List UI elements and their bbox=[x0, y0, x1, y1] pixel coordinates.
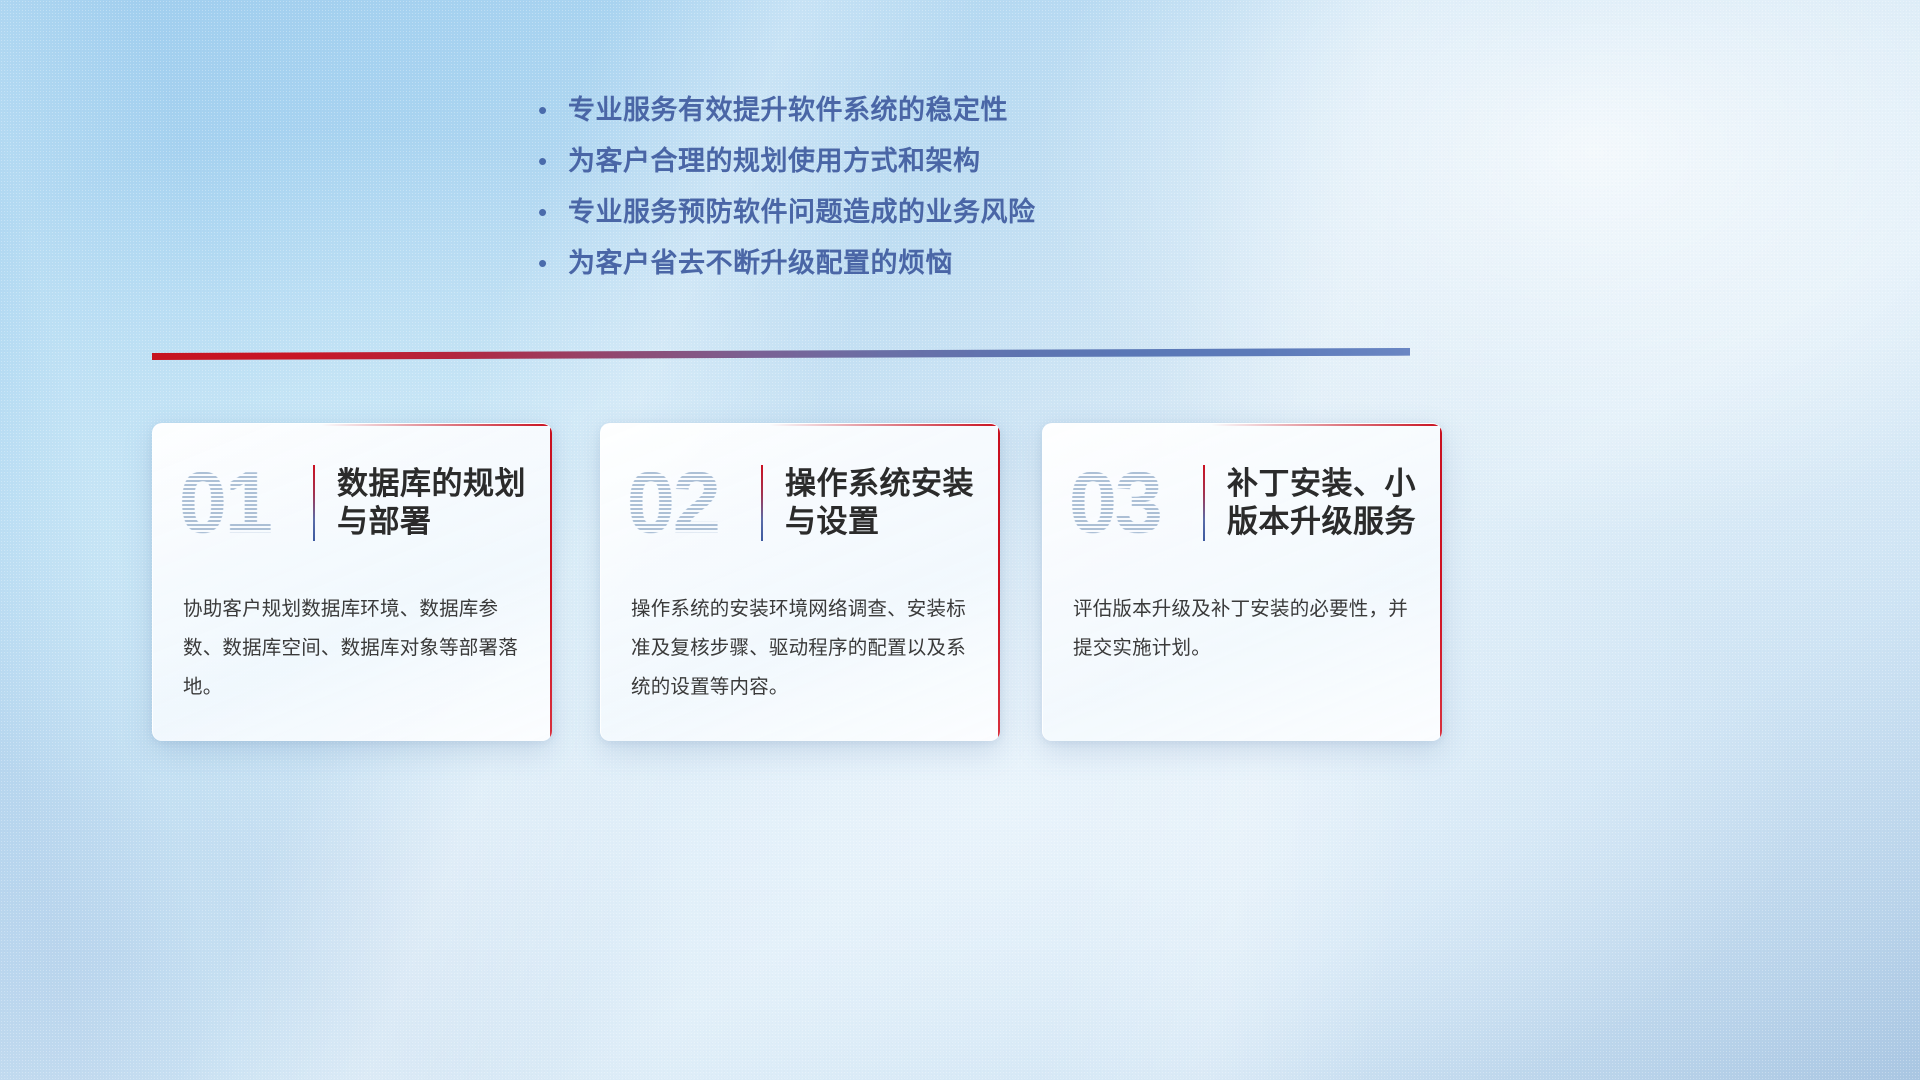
bullet-dot-icon: • bbox=[538, 199, 568, 225]
bullet-item: • 为客户省去不断升级配置的烦恼 bbox=[538, 241, 1036, 292]
card-body-text: 协助客户规划数据库环境、数据库参数、数据库空间、数据库对象等部署落地。 bbox=[153, 564, 552, 707]
card-number: 01 bbox=[179, 460, 307, 546]
card-title-rule bbox=[313, 465, 315, 541]
card-number: 02 bbox=[627, 460, 755, 546]
gradient-divider bbox=[152, 348, 1410, 360]
feature-card[interactable]: 01 数据库的规划与部署 协助客户规划数据库环境、数据库参数、数据库空间、数据库… bbox=[152, 423, 552, 741]
slide-canvas: • 专业服务有效提升软件系统的稳定性 • 为客户合理的规划使用方式和架构 • 专… bbox=[0, 0, 1920, 1080]
feature-card[interactable]: 03 补丁安装、小版本升级服务 评估版本升级及补丁安装的必要性，并提交实施计划。 bbox=[1042, 423, 1442, 741]
card-header: 03 补丁安装、小版本升级服务 bbox=[1043, 424, 1442, 564]
bullet-list: • 专业服务有效提升软件系统的稳定性 • 为客户合理的规划使用方式和架构 • 专… bbox=[538, 88, 1036, 292]
bullet-dot-icon: • bbox=[538, 250, 568, 276]
bullet-item-label: 为客户省去不断升级配置的烦恼 bbox=[568, 241, 953, 280]
card-header: 02 操作系统安装与设置 bbox=[601, 424, 1000, 564]
card-body-text: 评估版本升级及补丁安装的必要性，并提交实施计划。 bbox=[1043, 564, 1442, 668]
card-title: 操作系统安装与设置 bbox=[785, 465, 974, 542]
card-title-rule bbox=[1203, 465, 1205, 541]
bullet-item: • 专业服务预防软件问题造成的业务风险 bbox=[538, 190, 1036, 241]
bullet-dot-icon: • bbox=[538, 148, 568, 174]
card-body-text: 操作系统的安装环境网络调查、安装标准及复核步骤、驱动程序的配置以及系统的设置等内… bbox=[601, 564, 1000, 707]
card-title: 补丁安装、小版本升级服务 bbox=[1227, 465, 1416, 542]
card-number: 03 bbox=[1069, 460, 1197, 546]
card-title: 数据库的规划与部署 bbox=[337, 465, 526, 542]
card-header: 01 数据库的规划与部署 bbox=[153, 424, 552, 564]
card-title-rule bbox=[761, 465, 763, 541]
bullet-item: • 为客户合理的规划使用方式和架构 bbox=[538, 139, 1036, 190]
feature-card[interactable]: 02 操作系统安装与设置 操作系统的安装环境网络调查、安装标准及复核步骤、驱动程… bbox=[600, 423, 1000, 741]
bullet-item-label: 专业服务有效提升软件系统的稳定性 bbox=[568, 88, 1008, 127]
bullet-item-label: 专业服务预防软件问题造成的业务风险 bbox=[568, 190, 1036, 229]
bullet-dot-icon: • bbox=[538, 97, 568, 123]
bullet-item: • 专业服务有效提升软件系统的稳定性 bbox=[538, 88, 1036, 139]
bullet-item-label: 为客户合理的规划使用方式和架构 bbox=[568, 139, 981, 178]
gradient-divider-bar bbox=[152, 348, 1410, 360]
